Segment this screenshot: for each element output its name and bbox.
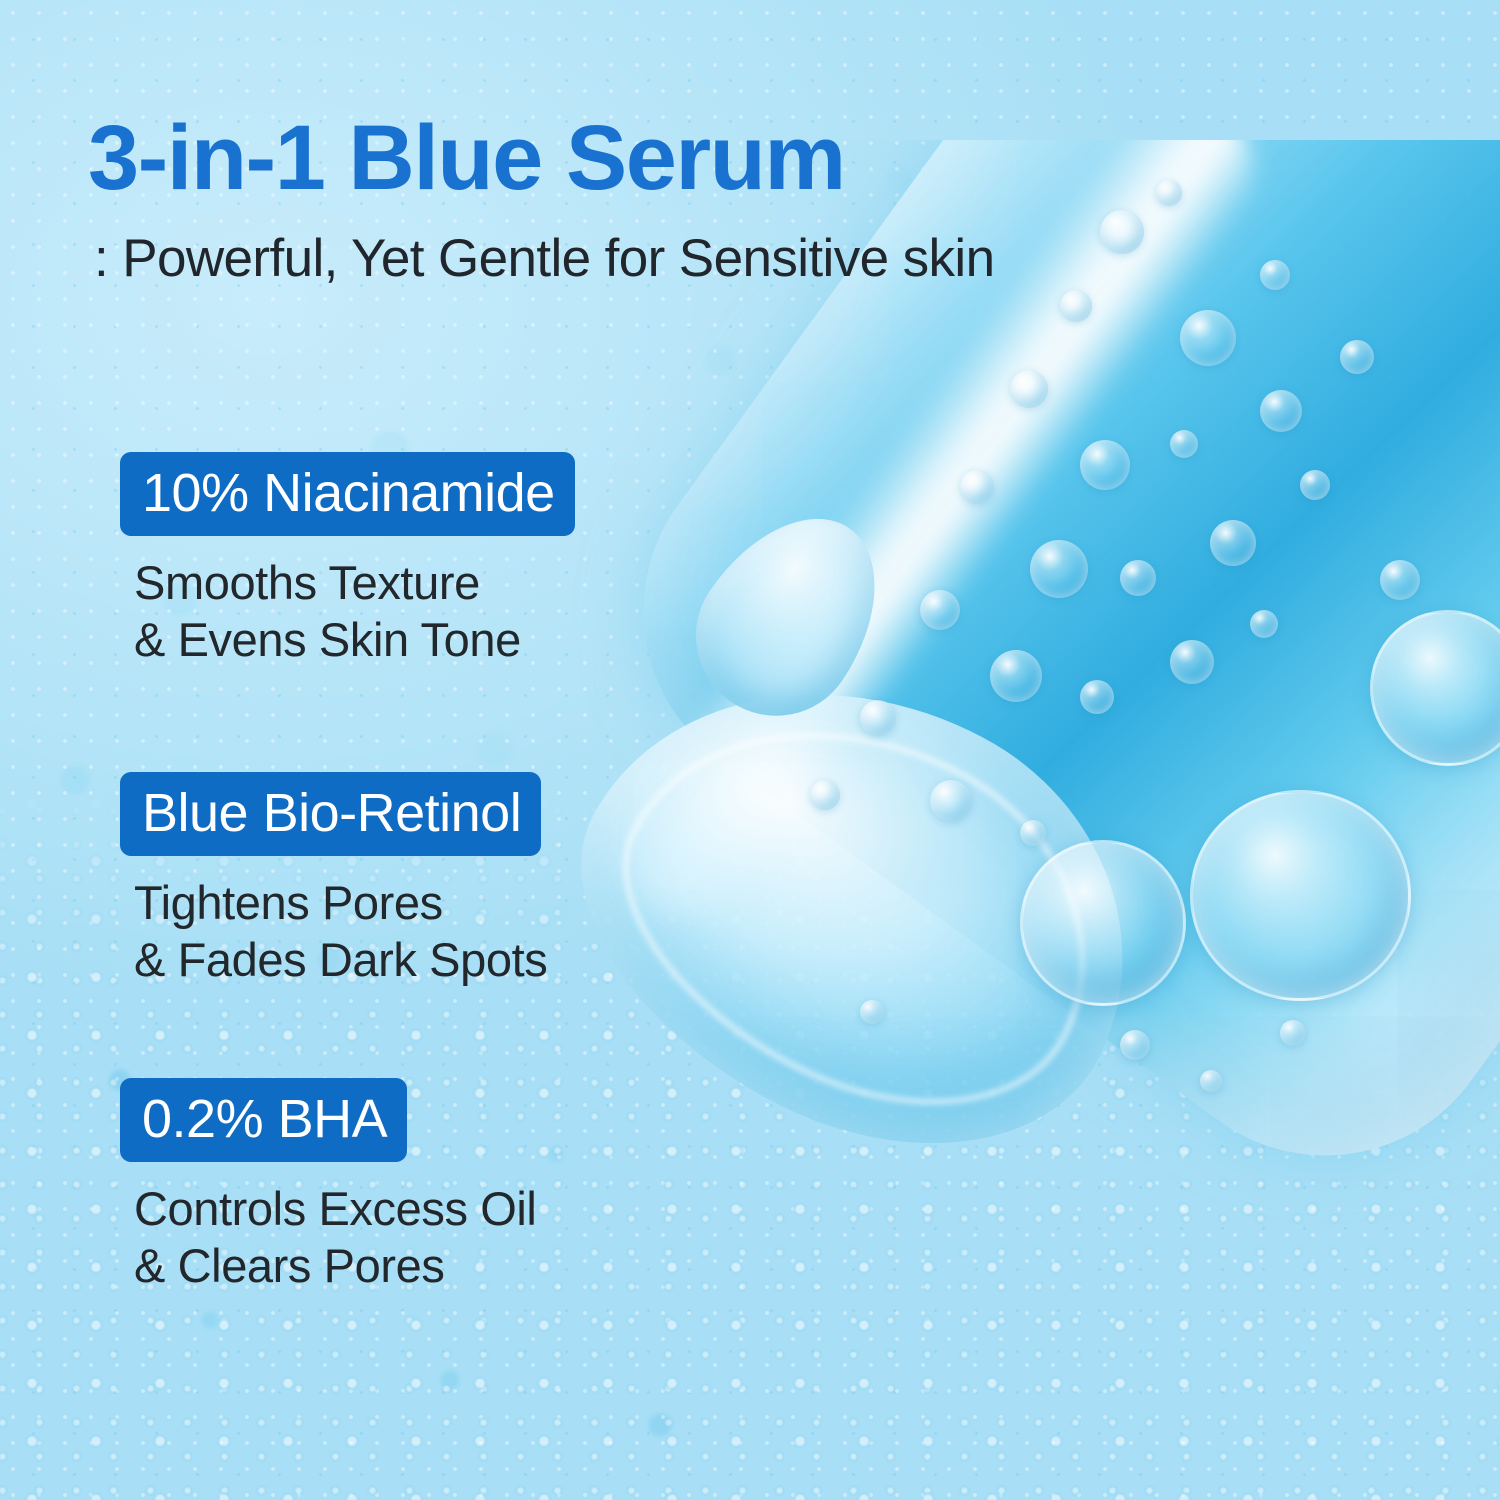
bubble	[1200, 1070, 1222, 1092]
bubble	[1260, 390, 1302, 432]
bubble	[1250, 610, 1278, 638]
bubble	[1170, 430, 1198, 458]
feature-item-niacinamide: 10% Niacinamide Smooths Texture & Evens …	[120, 452, 575, 669]
bubble	[1380, 560, 1420, 600]
bubble	[1210, 520, 1256, 566]
feature-item-bha: 0.2% BHA Controls Excess Oil & Clears Po…	[120, 1078, 536, 1295]
bubble	[1300, 470, 1330, 500]
ingredient-badge: 10% Niacinamide	[120, 452, 575, 536]
bubble	[1156, 180, 1182, 206]
bubble	[1340, 340, 1374, 374]
bubble	[1100, 210, 1144, 254]
bubble	[1080, 440, 1130, 490]
large-bubble	[1020, 840, 1186, 1006]
page-subtitle: : Powerful, Yet Gentle for Sensitive ski…	[94, 232, 994, 285]
ingredient-description: Tightens Pores & Fades Dark Spots	[134, 874, 547, 989]
bubble	[1260, 260, 1290, 290]
bubble	[1060, 290, 1092, 322]
feature-item-bio-retinol: Blue Bio-Retinol Tightens Pores & Fades …	[120, 772, 547, 989]
ingredient-badge: 0.2% BHA	[120, 1078, 407, 1162]
bubble	[990, 650, 1042, 702]
bubble	[1030, 540, 1088, 598]
bubble	[1170, 640, 1214, 684]
bubble	[1280, 1020, 1306, 1046]
ingredient-description: Controls Excess Oil & Clears Pores	[134, 1180, 536, 1295]
bubble	[1080, 680, 1114, 714]
bubble	[960, 470, 994, 504]
bubble	[860, 700, 896, 736]
bubble	[1120, 560, 1156, 596]
bubble	[1010, 370, 1048, 408]
product-infographic-card: 3-in-1 Blue Serum : Powerful, Yet Gentle…	[0, 0, 1500, 1500]
large-bubble	[1190, 790, 1411, 1001]
bubble	[1020, 820, 1046, 846]
bubble	[860, 1000, 884, 1024]
bubble	[1120, 1030, 1150, 1060]
page-title: 3-in-1 Blue Serum	[88, 112, 845, 204]
bubble	[810, 780, 840, 810]
ingredient-description: Smooths Texture & Evens Skin Tone	[134, 554, 575, 669]
ingredient-badge: Blue Bio-Retinol	[120, 772, 541, 856]
bubble	[930, 780, 972, 822]
bubble	[920, 590, 960, 630]
bubble	[1180, 310, 1236, 366]
serum-gel-photo	[560, 140, 1500, 1280]
